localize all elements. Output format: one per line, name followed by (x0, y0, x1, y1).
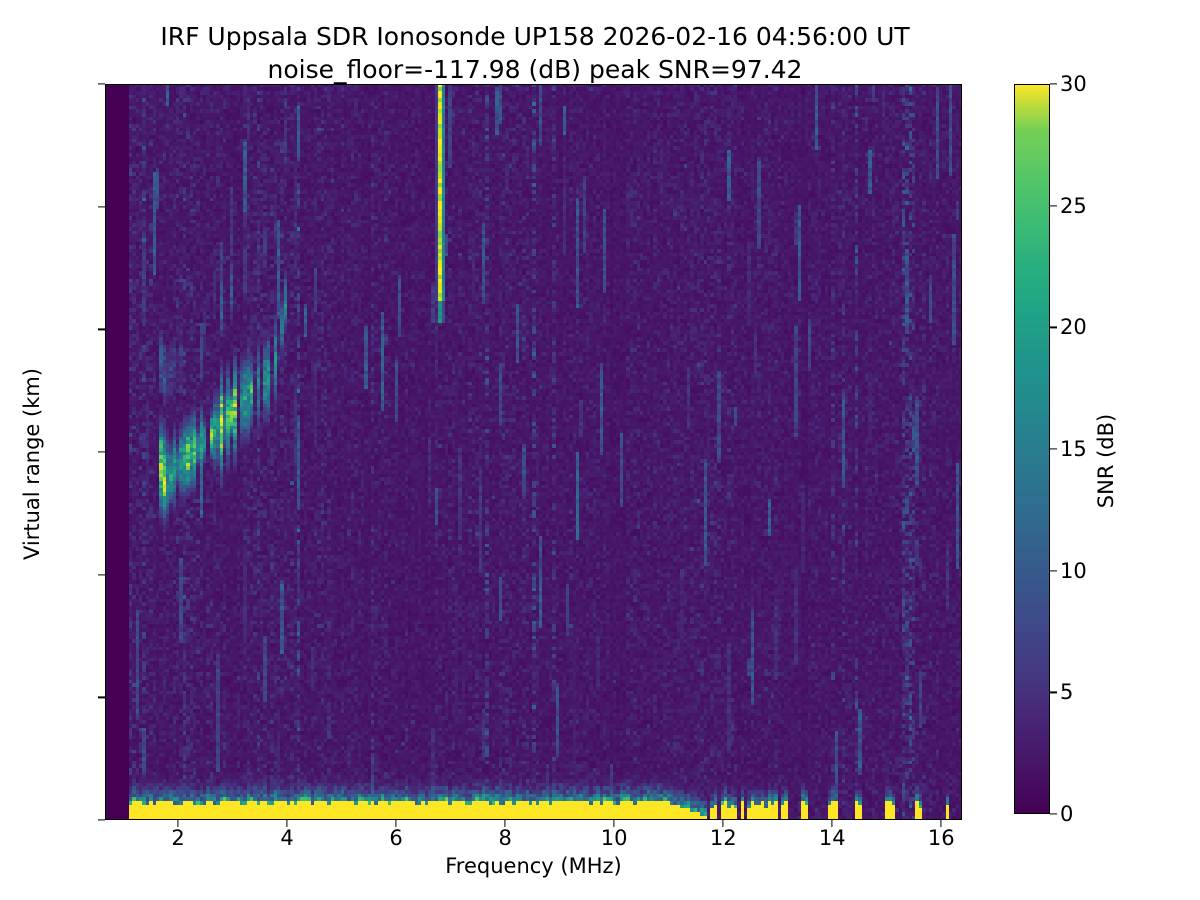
colorbar-tick-label: 15 (1060, 437, 1087, 461)
y-axis-label: Virtual range (km) (20, 294, 44, 634)
figure-title-line2: noise_floor=-117.98 (dB) peak SNR=97.42 (0, 53, 1070, 86)
figure-title: IRF Uppsala SDR Ionosonde UP158 2026-02-… (0, 20, 1070, 86)
x-tick-mark (505, 820, 506, 827)
ionogram-heatmap[interactable] (105, 84, 962, 820)
colorbar-tick-label: 30 (1060, 72, 1087, 96)
colorbar-tick-mark (1050, 692, 1057, 693)
colorbar-tick-label: 20 (1060, 315, 1087, 339)
colorbar-tick-mark (1050, 448, 1057, 449)
colorbar-tick-label: 5 (1060, 680, 1073, 704)
colorbar-tick-mark (1050, 813, 1057, 814)
x-tick-mark (832, 820, 833, 827)
colorbar-label: SNR (dB) (1094, 361, 1118, 561)
x-tick-label: 16 (928, 826, 955, 850)
y-tick-mark (98, 206, 105, 207)
y-tick-mark (98, 819, 105, 820)
x-tick-label: 2 (171, 826, 184, 850)
colorbar-tick-mark (1050, 570, 1057, 571)
colorbar-tick-mark (1050, 327, 1057, 328)
x-tick-label: 4 (280, 826, 293, 850)
x-axis-label: Frequency (MHz) (105, 854, 962, 878)
x-tick-mark (723, 820, 724, 827)
y-tick-mark (98, 83, 105, 84)
colorbar-tick-label: 0 (1060, 802, 1073, 826)
x-tick-mark (614, 820, 615, 827)
x-tick-mark (396, 820, 397, 827)
x-tick-label: 6 (389, 826, 402, 850)
y-tick-mark (98, 697, 105, 698)
x-tick-label: 12 (710, 826, 737, 850)
y-tick-mark (98, 451, 105, 452)
y-tick-mark (98, 574, 105, 575)
colorbar-tick-mark (1050, 83, 1057, 84)
y-tick-mark (98, 329, 105, 330)
colorbar-tick-label: 25 (1060, 194, 1087, 218)
x-tick-mark (941, 820, 942, 827)
colorbar-tick-label: 10 (1060, 559, 1087, 583)
x-tick-mark (177, 820, 178, 827)
heatmap-canvas[interactable] (105, 84, 962, 820)
x-tick-mark (286, 820, 287, 827)
figure-title-line1: IRF Uppsala SDR Ionosonde UP158 2026-02-… (160, 22, 909, 51)
colorbar-tick-mark (1050, 205, 1057, 206)
x-tick-label: 8 (498, 826, 511, 850)
x-tick-label: 14 (819, 826, 846, 850)
x-tick-label: 10 (601, 826, 628, 850)
ionogram-figure: IRF Uppsala SDR Ionosonde UP158 2026-02-… (0, 0, 1200, 900)
colorbar-frame (1014, 84, 1050, 814)
